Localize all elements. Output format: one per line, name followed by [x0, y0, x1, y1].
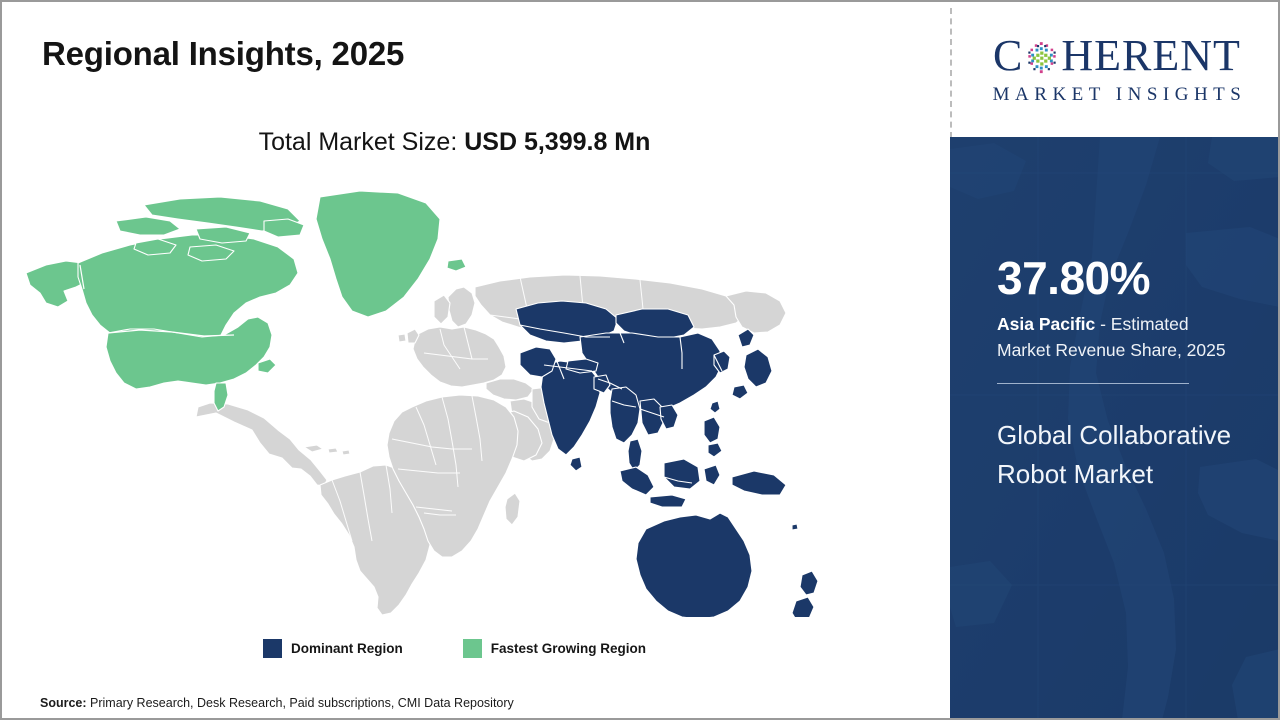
source-label: Source:	[40, 696, 87, 710]
legend-swatch-fastest-growing	[463, 639, 482, 658]
left-content-panel: Regional Insights, 2025 Total Market Siz…	[2, 2, 950, 720]
legend-item-dominant: Dominant Region	[263, 639, 403, 658]
source-note: Source: Primary Research, Desk Research,…	[40, 696, 514, 710]
total-market-size: Total Market Size: USD 5,399.8 Mn	[2, 128, 907, 157]
market-name: Global Collaborative Robot Market	[997, 416, 1237, 492]
stat-divider-rule	[997, 383, 1189, 384]
logo-word-herent: HERENT	[1061, 34, 1241, 78]
map-region-asia-pacific	[516, 301, 818, 617]
world-map-container	[20, 177, 840, 617]
regional-insights-infographic: Regional Insights, 2025 Total Market Siz…	[0, 0, 1280, 720]
logo-letter-c: C	[993, 34, 1023, 78]
vertical-dashed-divider	[950, 8, 952, 138]
stat-description: Asia Pacific - Estimated Market Revenue …	[997, 312, 1237, 363]
logo-wordmark: C	[993, 34, 1241, 78]
legend-swatch-dominant	[263, 639, 282, 658]
legend-item-fastest-growing: Fastest Growing Region	[463, 639, 646, 658]
legend-label-dominant: Dominant Region	[291, 641, 403, 656]
source-text: Primary Research, Desk Research, Paid su…	[90, 696, 514, 710]
stat-percent-value: 37.80%	[997, 255, 1237, 301]
map-legend: Dominant Region Fastest Growing Region	[2, 639, 907, 658]
total-market-size-label: Total Market Size:	[259, 128, 458, 156]
legend-label-fastest-growing: Fastest Growing Region	[491, 641, 646, 656]
map-region-north-america	[26, 191, 466, 411]
stat-content: 37.80% Asia Pacific - Estimated Market R…	[997, 255, 1237, 493]
stat-panel: 37.80% Asia Pacific - Estimated Market R…	[950, 137, 1280, 720]
logo-subtitle: MARKET INSIGHTS	[988, 84, 1247, 106]
world-map-svg	[20, 177, 840, 617]
stat-region-name: Asia Pacific	[997, 314, 1095, 334]
globe-dot-icon	[1024, 40, 1060, 76]
total-market-size-value: USD 5,399.8 Mn	[464, 128, 650, 156]
page-title: Regional Insights, 2025	[42, 35, 404, 73]
company-logo: C	[954, 2, 1280, 137]
